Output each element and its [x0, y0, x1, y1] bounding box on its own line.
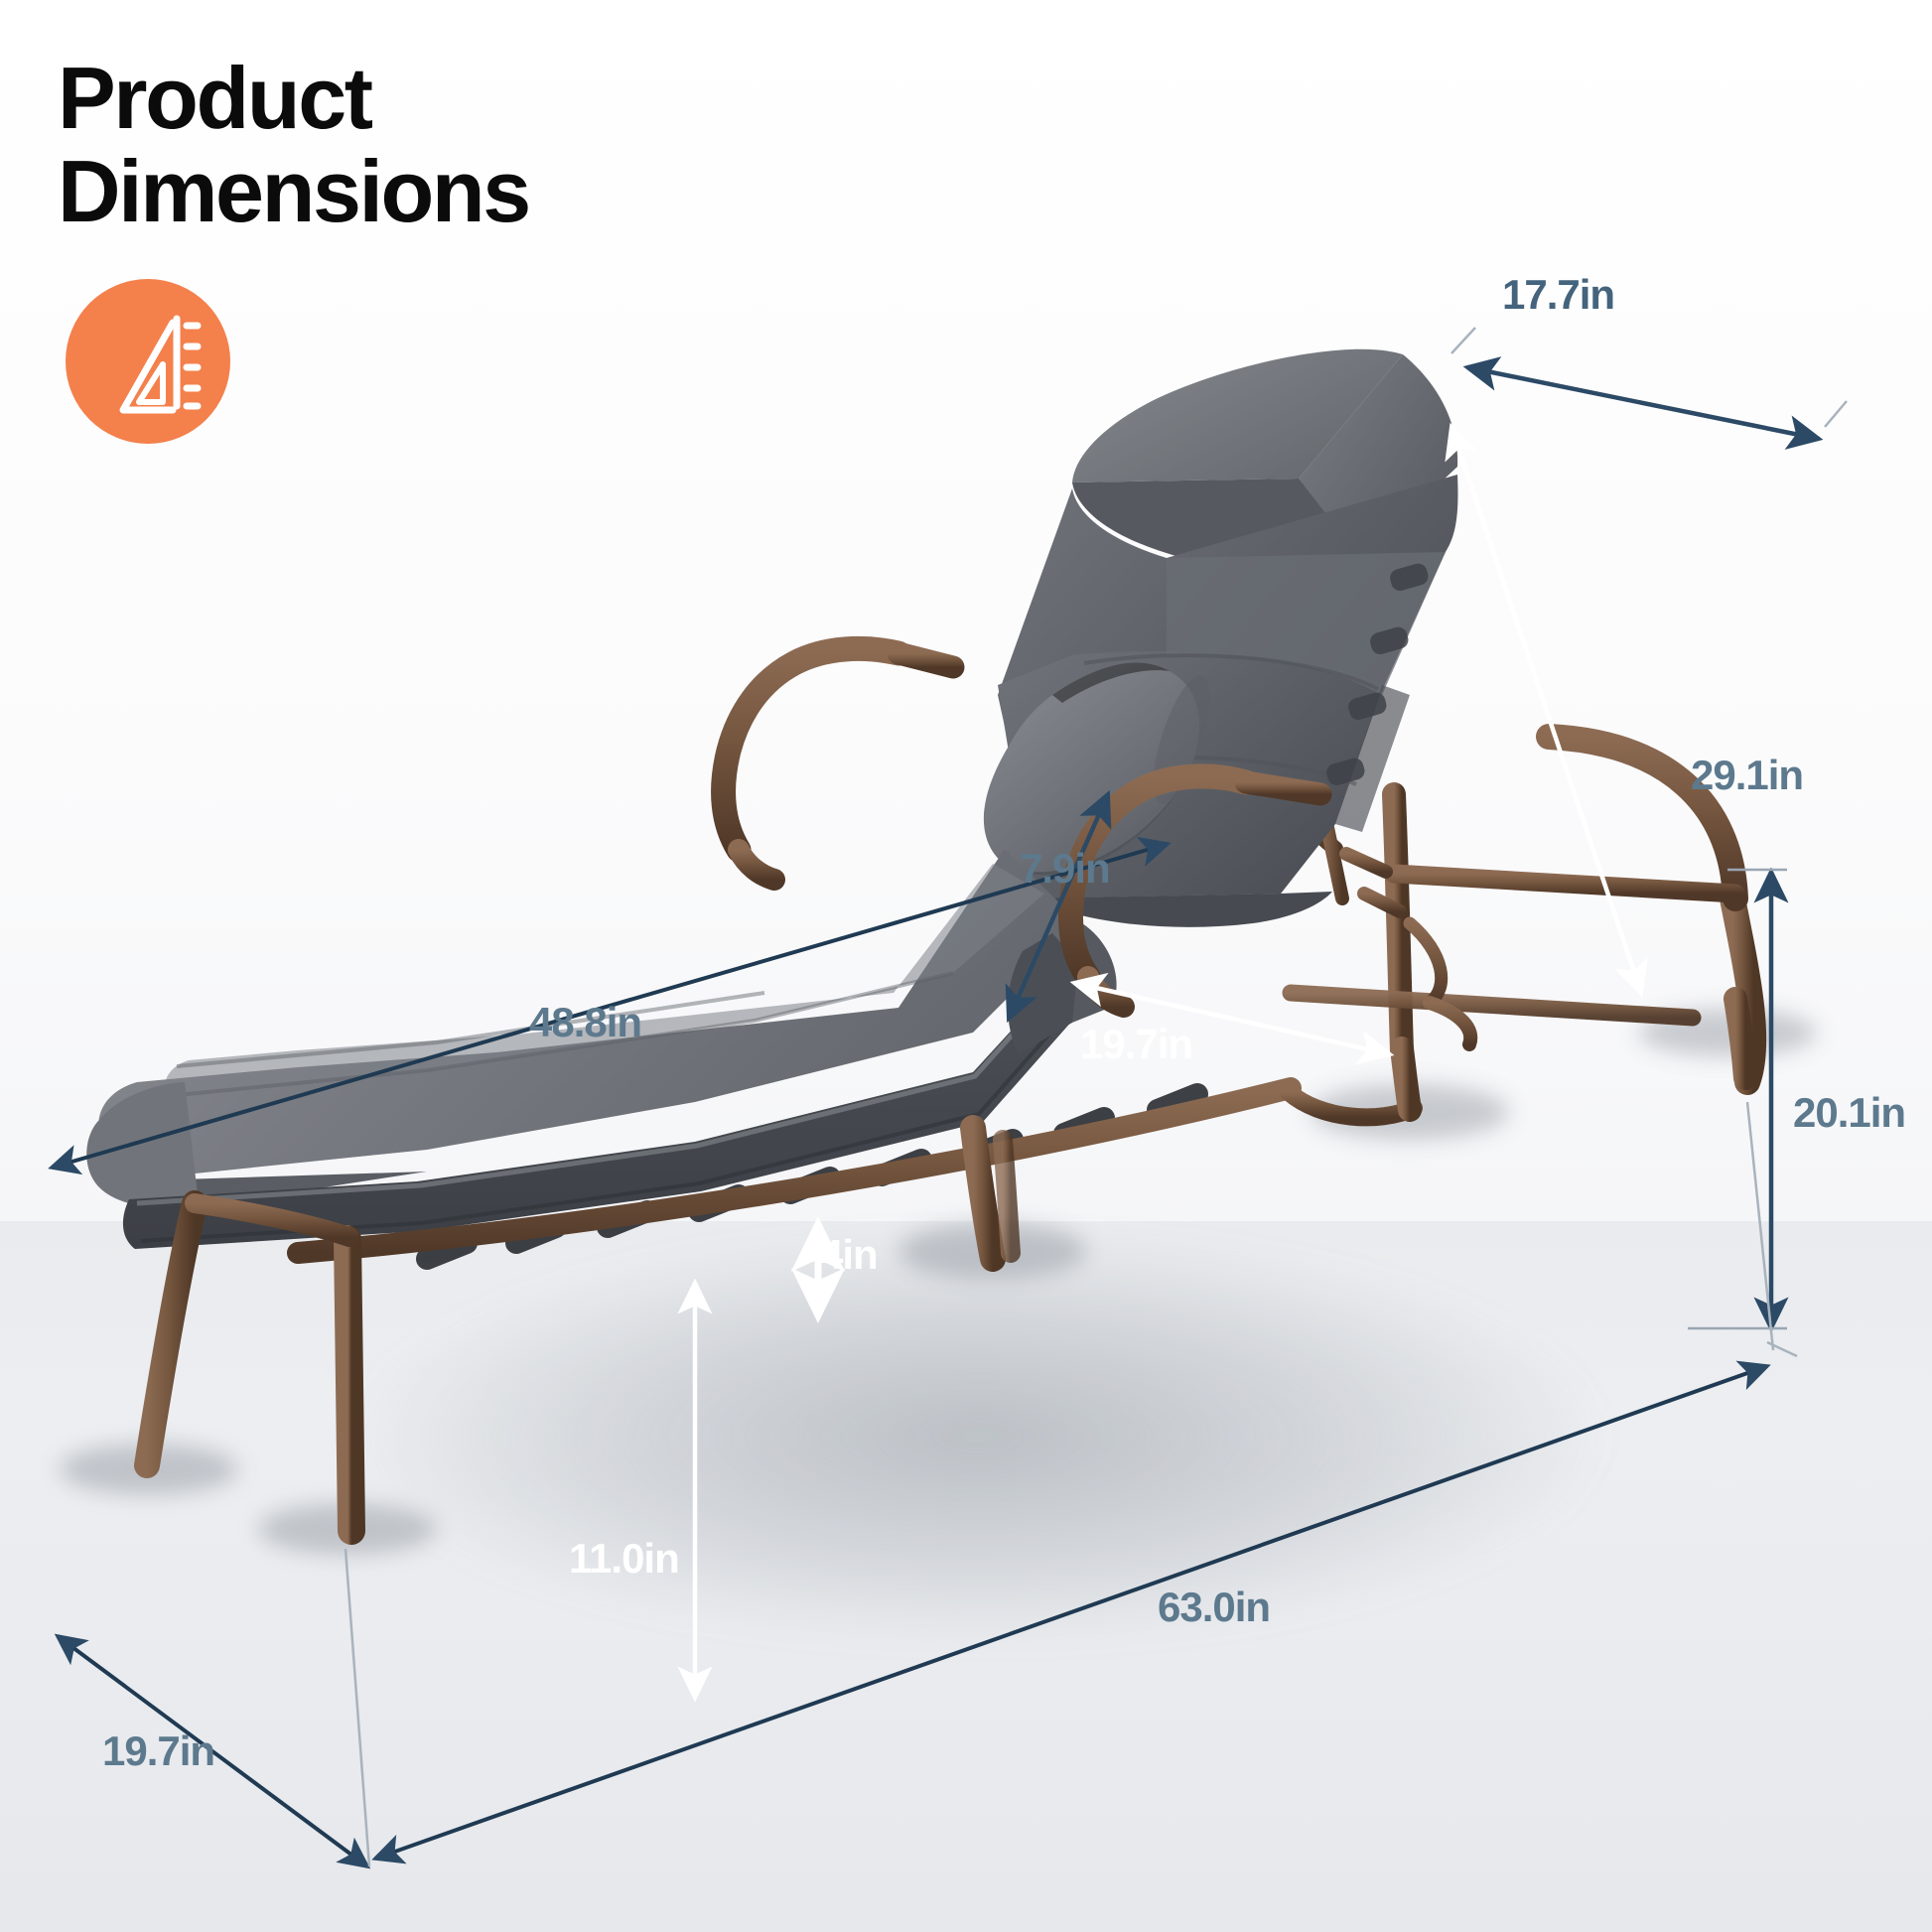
- dimension-label-overall-length: 63.0in: [1158, 1584, 1270, 1631]
- dimension-label-leg-height: 11.0in: [569, 1535, 679, 1583]
- dimension-label-seat-width: 19.7in: [1080, 1021, 1192, 1068]
- dimension-arrow-layer: [0, 0, 1932, 1932]
- dimension-label-cushion-length: 48.8in: [529, 999, 641, 1046]
- arrow-overall-length: [375, 1366, 1767, 1859]
- dimension-label-backrest-height: 29.1in: [1691, 752, 1803, 799]
- dimension-label-overall-width: 19.7in: [102, 1727, 214, 1775]
- arrow-seat-height-rear: [1688, 870, 1787, 1328]
- arrow-backrest-height: [1451, 427, 1641, 993]
- dimension-label-seat-height-rear: 20.1in: [1793, 1089, 1905, 1137]
- infographic-canvas: Product Dimensions: [0, 0, 1932, 1932]
- dimension-guide-lines: [345, 328, 1847, 1866]
- dimension-label-pillow-depth: 7.9in: [1020, 845, 1110, 893]
- dimension-label-width-top: 17.7in: [1502, 271, 1614, 319]
- dimension-label-cushion-thickness: 4in: [820, 1231, 878, 1279]
- arrow-width-top: [1467, 367, 1819, 439]
